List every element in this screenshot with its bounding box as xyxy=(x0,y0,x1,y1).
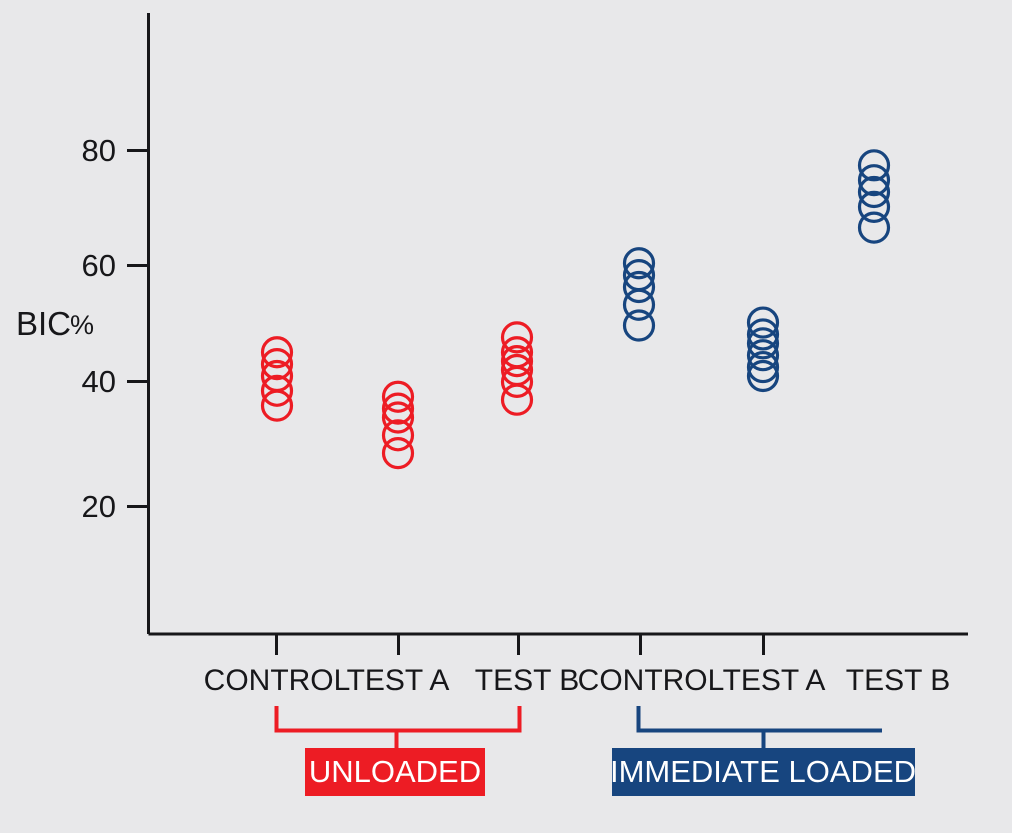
dot-column-4 xyxy=(625,249,654,340)
bracket-unloaded xyxy=(277,706,520,731)
group-badge-unloaded[interactable]: UNLOADED xyxy=(305,748,485,796)
data-point xyxy=(503,385,532,414)
y-axis-title-unit: % xyxy=(70,310,94,340)
x-category-label-2: TEST A xyxy=(347,664,450,697)
x-axis-ticks xyxy=(277,634,764,655)
group-badge-unloaded-label: UNLOADED xyxy=(309,754,481,789)
y-tick-label-40: 40 xyxy=(82,364,116,399)
y-axis-ticks xyxy=(127,151,149,507)
dot-column-6 xyxy=(860,151,889,242)
data-point xyxy=(384,439,413,468)
group-badge-loaded-label: IMMEDIATE LOADED xyxy=(610,754,916,789)
data-point xyxy=(384,421,413,450)
data-point xyxy=(625,311,654,340)
x-category-label-5: TEST A xyxy=(723,664,826,697)
y-tick-label-60: 60 xyxy=(82,248,116,283)
y-tick-label-80: 80 xyxy=(82,133,116,168)
chart-container: 80 60 40 20 BIC % CONTROL TEST A TEST B … xyxy=(0,0,1012,833)
dot-column-2 xyxy=(384,382,413,467)
bic-percent-dot-plot: 80 60 40 20 BIC % CONTROL TEST A TEST B … xyxy=(0,0,1012,833)
x-category-label-1: CONTROL xyxy=(204,664,351,697)
x-category-label-3: TEST B xyxy=(475,664,579,697)
dot-column-1 xyxy=(263,338,292,420)
x-category-label-6: TEST B xyxy=(846,664,950,697)
group-badge-loaded[interactable]: IMMEDIATE LOADED xyxy=(610,748,916,796)
data-point xyxy=(860,213,889,242)
data-points-layer xyxy=(263,151,889,468)
dot-column-5 xyxy=(749,308,778,390)
bracket-loaded xyxy=(639,706,883,731)
y-tick-label-20: 20 xyxy=(82,489,116,524)
x-category-label-4: CONTROL xyxy=(578,664,725,697)
y-axis-title: BIC xyxy=(16,305,71,342)
dot-column-3 xyxy=(503,323,532,414)
